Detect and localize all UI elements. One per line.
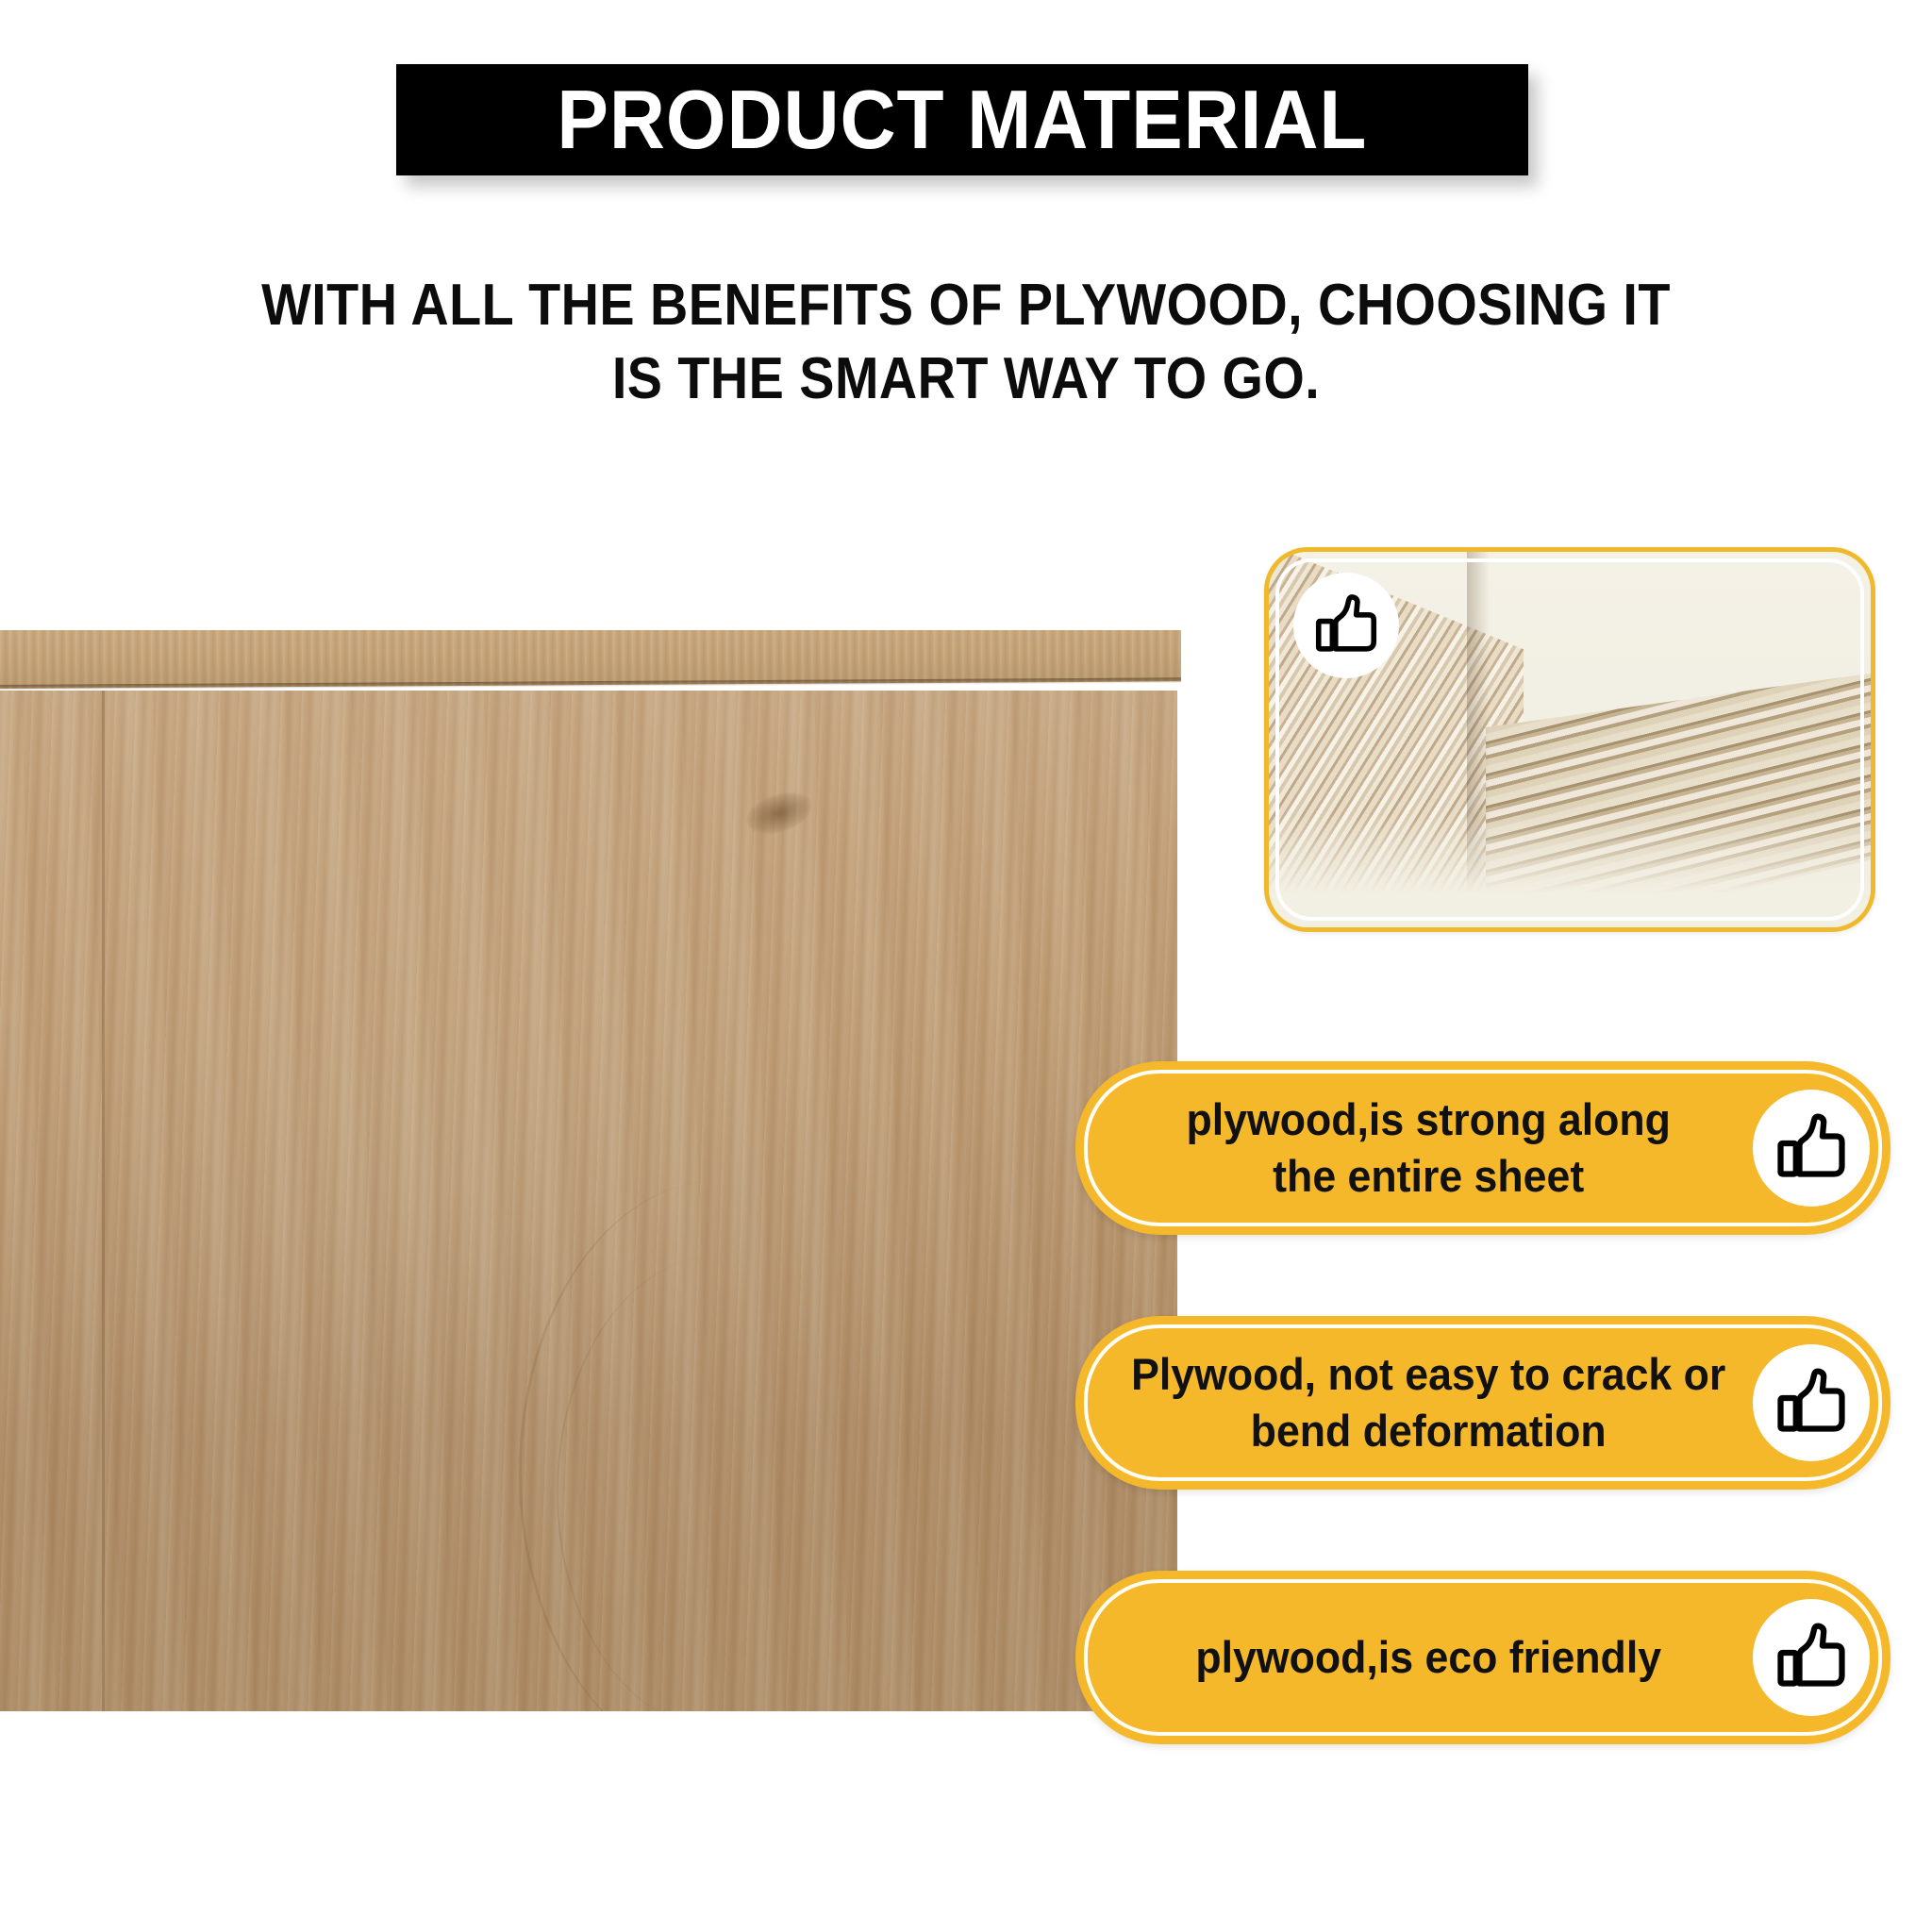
- page-title: PRODUCT MATERIAL: [557, 78, 1367, 161]
- feature-badge-1[interactable]: plywood,is strong along the entire sheet: [1075, 1061, 1890, 1235]
- feature-badge-1-icon-circle: [1753, 1090, 1870, 1207]
- feature-badge-1-text: plywood,is strong along the entire sheet: [1092, 1091, 1736, 1205]
- feature-badge-2-icon-circle: [1753, 1344, 1870, 1461]
- plywood-bottom-fade: [1269, 814, 1871, 927]
- feature-badge-2-text: Plywood, not easy to crack or bend defor…: [1092, 1346, 1736, 1459]
- feature-badge-3[interactable]: plywood,is eco friendly: [1075, 1571, 1890, 1744]
- thumbs-up-icon: [1774, 1110, 1849, 1186]
- thumbs-up-icon: [1774, 1620, 1849, 1695]
- feature-badge-3-icon-circle: [1753, 1599, 1870, 1716]
- feature-badge-2-line-1: Plywood, not easy to crack or: [1131, 1349, 1725, 1399]
- title-banner: PRODUCT MATERIAL: [396, 64, 1528, 175]
- thumbs-up-icon: [1312, 591, 1380, 659]
- feature-badge-1-line-2: the entire sheet: [1273, 1151, 1584, 1201]
- feature-badge-3-text: plywood,is eco friendly: [1092, 1629, 1736, 1686]
- feature-badge-2[interactable]: Plywood, not easy to crack or bend defor…: [1075, 1316, 1890, 1490]
- product-material-infographic: PRODUCT MATERIAL WITH ALL THE BENEFITS O…: [0, 0, 1932, 1932]
- plywood-card-thumbs-up-badge: [1293, 573, 1399, 678]
- thumbs-up-icon: [1774, 1365, 1849, 1441]
- subtitle-line-1: WITH ALL THE BENEFITS OF PLYWOOD, CHOOSI…: [96, 269, 1835, 342]
- feature-badge-2-line-2: bend deformation: [1251, 1406, 1607, 1456]
- feature-badge-3-line-1: plywood,is eco friendly: [1195, 1632, 1661, 1682]
- wood-panel-edge-line: [102, 691, 105, 1711]
- wood-panel-face: [0, 691, 1177, 1711]
- wood-panel-photo: [0, 630, 1181, 1711]
- wood-grain-arc-secondary: [557, 1257, 877, 1711]
- subtitle: WITH ALL THE BENEFITS OF PLYWOOD, CHOOSI…: [0, 269, 1932, 415]
- plywood-photo-card: [1264, 547, 1875, 932]
- subtitle-line-2: IS THE SMART WAY TO GO.: [96, 342, 1835, 416]
- feature-badge-1-line-1: plywood,is strong along: [1186, 1094, 1670, 1144]
